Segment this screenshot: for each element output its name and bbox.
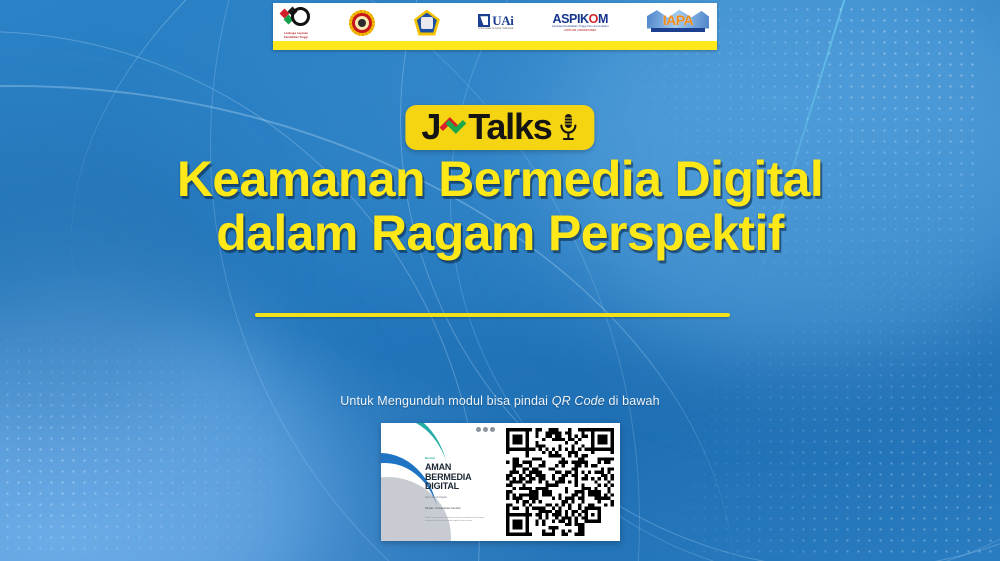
uai-icon: UAi [478, 14, 513, 27]
aspikom-wordmark: ASPIKOM [552, 13, 608, 26]
headline-line-2: dalam Ragam Perspektif [0, 206, 1000, 260]
aspikom-text-right: M [598, 12, 608, 26]
logo-lldikti-caption-2: Pendidikan Tinggi [284, 37, 308, 40]
caption-emphasis: QR Code [552, 394, 605, 408]
qr-code-image [505, 428, 615, 536]
caption-before: Untuk Mengunduh modul bisa pindai [340, 394, 551, 408]
booklet-title: AMAN BERMEDIA DIGITAL [425, 463, 495, 492]
uai-wordmark: UAi [492, 14, 513, 27]
jtalks-letter-j: J [421, 109, 440, 145]
qr-instruction-caption: Untuk Mengunduh modul bisa pindai QR Cod… [0, 394, 1000, 408]
caption-after: di bawah [605, 394, 660, 408]
booklet-logo-dots [476, 427, 495, 432]
logo-uai: UAi Universitas Al Azhar Indonesia [478, 14, 513, 31]
logo-lldikti: Lembaga Layanan Pendidikan Tinggi [281, 6, 311, 39]
booklet-eyebrow: Modul [425, 456, 495, 460]
kemendikbud-crest-icon [349, 10, 375, 36]
iapa-wordmark: IAPA [663, 13, 693, 27]
qr-code[interactable] [500, 423, 620, 541]
booklet-subtitle: Seri Literasi Digital [425, 496, 495, 500]
jtalks-diamond-mark-icon [442, 115, 466, 139]
jtalks-badge: J Talks [405, 105, 594, 150]
lldikti-icon [281, 6, 311, 32]
logo-aspikom-caption-2: ASPIKOM JABODETABEK [564, 30, 596, 33]
partner-logo-bar: Lembaga Layanan Pendidikan Tinggi UAi Un… [273, 3, 717, 50]
glow-bottom-left [0, 281, 320, 561]
microphone-icon [557, 112, 581, 142]
aspikom-text-left: ASPIK [552, 12, 588, 26]
tut-wuri-handayani-icon [414, 10, 440, 36]
logo-aspikom: ASPIKOM Asosiasi Pendidikan Tinggi Ilmu … [552, 13, 609, 32]
logo-bar-yellow-strip [273, 41, 717, 50]
slide-headline: Keamanan Bermedia Digital dalam Ragam Pe… [0, 152, 1000, 260]
booklet-text-block: Modul AMAN BERMEDIA DIGITAL Seri Literas… [425, 456, 495, 524]
partner-logo-row: Lembaga Layanan Pendidikan Tinggi UAi Un… [273, 3, 717, 41]
booklet-body-text: Modul literasi digital nasional untuk me… [425, 517, 495, 524]
iapa-icon: IAPA [647, 7, 709, 39]
yellow-divider [255, 313, 730, 317]
logo-uai-caption: Universitas Al Azhar Indonesia [478, 28, 513, 31]
presentation-slide: Lembaga Layanan Pendidikan Tinggi UAi Un… [0, 0, 1000, 561]
booklet-title-line-3: DIGITAL [425, 482, 495, 492]
aspikom-text-o: O [589, 12, 598, 26]
logo-iapa: IAPA [647, 7, 709, 39]
logo-tut-wuri-handayani [414, 10, 440, 36]
qr-panel: Modul AMAN BERMEDIA DIGITAL Seri Literas… [381, 423, 620, 541]
logo-kemendikbud [349, 10, 375, 36]
dot-pattern-bottom-left [0, 301, 340, 551]
headline-line-1: Keamanan Bermedia Digital [177, 151, 823, 207]
booklet-authors: Penulis : Kementerian Kominfo [425, 507, 495, 511]
jtalks-word-talks: Talks [468, 109, 551, 145]
booklet-cover: Modul AMAN BERMEDIA DIGITAL Seri Literas… [381, 423, 500, 541]
